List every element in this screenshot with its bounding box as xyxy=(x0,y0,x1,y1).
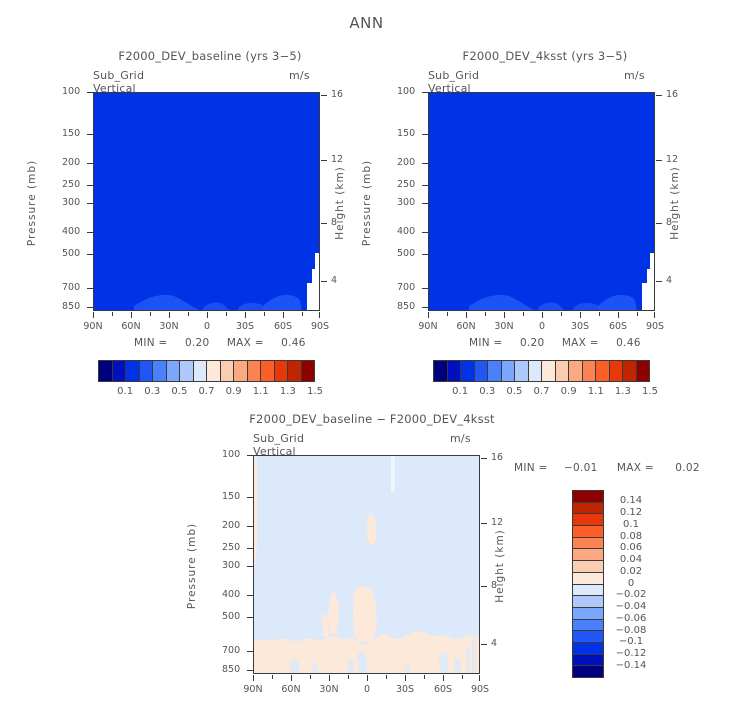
colorbar-label: 0.04 xyxy=(608,554,654,565)
colorbar-label: 0.02 xyxy=(608,566,654,577)
panel-difference-field-svg xyxy=(254,456,479,673)
colorbar-label: 1.3 xyxy=(273,386,303,397)
colorbar-cell xyxy=(573,503,603,515)
panel-4ksst-units: m/s xyxy=(624,69,645,82)
panel-baseline-field-svg xyxy=(94,93,319,310)
tick-height-16: 16 xyxy=(491,452,503,463)
colorbar-cell xyxy=(573,514,603,526)
colorbar-label: 0.5 xyxy=(499,386,529,397)
colorbar-cell xyxy=(573,596,603,608)
colorbar-cell xyxy=(288,361,302,381)
colorbar-cell xyxy=(221,361,235,381)
tick-height-12: 12 xyxy=(666,154,678,165)
tick-height-8: 8 xyxy=(666,217,672,228)
colorbar-cell xyxy=(573,538,603,550)
tick-pressure-150: 150 xyxy=(397,128,415,139)
panel-baseline-units: m/s xyxy=(289,69,310,82)
colorbar-cell xyxy=(596,361,610,381)
colorbar-label: −0.14 xyxy=(608,660,654,671)
colorbar-label: 0.08 xyxy=(608,531,654,542)
panel-difference-minmax: MIN = −0.01 MAX = 0.02 xyxy=(514,462,700,474)
tick-lat-60N: 60N xyxy=(451,321,481,332)
colorbar-cell xyxy=(461,361,475,381)
tick-pressure-150: 150 xyxy=(222,491,240,502)
colorbar-label: −0.12 xyxy=(608,648,654,659)
tick-pressure-100: 100 xyxy=(222,449,240,460)
tick-pressure-700: 700 xyxy=(397,282,415,293)
tick-pressure-850: 850 xyxy=(62,301,80,312)
colorbar-cell xyxy=(194,361,208,381)
tick-lat-30N: 30N xyxy=(314,684,344,695)
tick-height-16: 16 xyxy=(666,89,678,100)
tick-pressure-300: 300 xyxy=(397,197,415,208)
colorbar-cell xyxy=(275,361,289,381)
colorbar-label: 0.9 xyxy=(219,386,249,397)
colorbar-label: 0.1 xyxy=(110,386,140,397)
colorbar-cell xyxy=(248,361,262,381)
tick-height-12: 12 xyxy=(491,517,503,528)
colorbar-cell xyxy=(573,561,603,573)
colorbar-label: −0.08 xyxy=(608,625,654,636)
panel-baseline-min-label: MIN = xyxy=(134,337,168,349)
tick-height-16: 16 xyxy=(331,89,343,100)
tick-height-8: 8 xyxy=(491,580,497,591)
colorbar-label: 0 xyxy=(608,578,654,589)
panel-4ksst-title: F2000_DEV_4ksst (yrs 3−5) xyxy=(375,49,715,63)
tick-pressure-850: 850 xyxy=(222,664,240,675)
panel-baseline-field xyxy=(94,93,319,310)
colorbar-cell xyxy=(515,361,529,381)
panel-difference-plot xyxy=(253,455,480,674)
tick-lat-90S: 90S xyxy=(640,321,670,332)
tick-pressure-500: 500 xyxy=(397,248,415,259)
colorbar-cell xyxy=(542,361,556,381)
tick-pressure-150: 150 xyxy=(62,128,80,139)
tick-lat-60N: 60N xyxy=(276,684,306,695)
colorbar-label: −0.04 xyxy=(608,601,654,612)
colorbar-label: 0.1 xyxy=(608,519,654,530)
colorbar-label: 0.7 xyxy=(527,386,557,397)
colorbar-label: 1.5 xyxy=(300,386,330,397)
panel-difference-min-label: MIN = xyxy=(514,462,548,474)
tick-pressure-700: 700 xyxy=(62,282,80,293)
panel-4ksst-max-label: MAX = xyxy=(562,337,599,349)
panel-baseline-title: F2000_DEV_baseline (yrs 3−5) xyxy=(40,49,380,63)
tick-pressure-100: 100 xyxy=(62,86,80,97)
panel-difference-colorbar-labels: 0.140.120.10.080.060.040.020−0.02−0.04−0… xyxy=(608,490,668,678)
colorbar-label: 1.5 xyxy=(635,386,665,397)
colorbar-label: 0.5 xyxy=(164,386,194,397)
colorbar-label: 0.9 xyxy=(554,386,584,397)
colorbar-cell xyxy=(556,361,570,381)
colorbar-cell xyxy=(180,361,194,381)
colorbar-cell xyxy=(207,361,221,381)
colorbar-label: 0.1 xyxy=(445,386,475,397)
colorbar-cell xyxy=(573,666,603,677)
colorbar-cell xyxy=(261,361,275,381)
colorbar-cell xyxy=(573,620,603,632)
colorbar-cell xyxy=(448,361,462,381)
colorbar-cell xyxy=(126,361,140,381)
colorbar-cell xyxy=(113,361,127,381)
tick-pressure-400: 400 xyxy=(62,226,80,237)
tick-pressure-200: 200 xyxy=(62,157,80,168)
tick-pressure-500: 500 xyxy=(62,248,80,259)
tick-lat-90S: 90S xyxy=(465,684,495,695)
colorbar-cell xyxy=(573,573,603,585)
colorbar-cell xyxy=(302,361,315,381)
panel-4ksst-min-value: 0.20 xyxy=(520,337,545,349)
colorbar-cell xyxy=(99,361,113,381)
figure-suptitle: ANN xyxy=(0,14,733,32)
tick-pressure-100: 100 xyxy=(397,86,415,97)
colorbar-cell xyxy=(569,361,583,381)
tick-pressure-500: 500 xyxy=(222,611,240,622)
panel-4ksst-field-svg xyxy=(429,93,654,310)
colorbar-label: −0.1 xyxy=(608,636,654,647)
colorbar-cell xyxy=(573,526,603,538)
panel-baseline-colorbar-labels: 0.10.30.50.70.91.11.31.5 xyxy=(98,386,315,400)
panel-baseline-plot xyxy=(93,92,320,311)
colorbar-cell xyxy=(623,361,637,381)
tick-height-12: 12 xyxy=(331,154,343,165)
tick-pressure-300: 300 xyxy=(222,560,240,571)
panel-4ksst-plot xyxy=(428,92,655,311)
panel-baseline-min-value: 0.20 xyxy=(185,337,210,349)
tick-pressure-200: 200 xyxy=(397,157,415,168)
colorbar-cell xyxy=(573,491,603,503)
colorbar-cell xyxy=(573,631,603,643)
panel-baseline-max-value: 0.46 xyxy=(281,337,306,349)
panel-baseline-yaxis-label: Pressure (mb) xyxy=(26,143,38,263)
colorbar-cell xyxy=(529,361,543,381)
colorbar-label: 0.3 xyxy=(137,386,167,397)
tick-height-4: 4 xyxy=(666,275,672,286)
colorbar-label: 0.7 xyxy=(192,386,222,397)
colorbar-label: 1.1 xyxy=(581,386,611,397)
tick-lat-90N: 90N xyxy=(413,321,443,332)
colorbar-label: 0.12 xyxy=(608,507,654,518)
colorbar-cell xyxy=(573,549,603,561)
tick-lat-60S: 60S xyxy=(603,321,633,332)
panel-4ksst-max-value: 0.46 xyxy=(616,337,641,349)
colorbar-cell xyxy=(573,655,603,667)
panel-baseline-max-label: MAX = xyxy=(227,337,264,349)
colorbar-label: −0.02 xyxy=(608,589,654,600)
colorbar-label: 1.3 xyxy=(608,386,638,397)
panel-difference-colorbar xyxy=(572,490,604,678)
panel-difference-max-label: MAX = xyxy=(617,462,654,474)
colorbar-cell xyxy=(434,361,448,381)
colorbar-cell xyxy=(573,643,603,655)
tick-lat-60S: 60S xyxy=(428,684,458,695)
panel-4ksst-field xyxy=(429,93,654,310)
colorbar-cell xyxy=(140,361,154,381)
tick-lat-90S: 90S xyxy=(305,321,335,332)
tick-pressure-400: 400 xyxy=(222,589,240,600)
tick-lat-30S: 30S xyxy=(565,321,595,332)
tick-lat-30N: 30N xyxy=(489,321,519,332)
tick-height-4: 4 xyxy=(331,275,337,286)
panel-4ksst-colorbar xyxy=(433,360,650,382)
panel-difference-max-value: 0.02 xyxy=(675,462,700,474)
colorbar-label: 0.3 xyxy=(472,386,502,397)
colorbar-cell xyxy=(637,361,650,381)
tick-pressure-200: 200 xyxy=(222,520,240,531)
panel-difference-min-value: −0.01 xyxy=(564,462,598,474)
panel-difference-title: F2000_DEV_baseline − F2000_DEV_4ksst xyxy=(196,412,548,426)
tick-lat-90N: 90N xyxy=(78,321,108,332)
panel-4ksst-yaxis-label: Pressure (mb) xyxy=(361,143,373,263)
colorbar-cell xyxy=(488,361,502,381)
tick-lat-0: 0 xyxy=(352,684,382,695)
tick-pressure-850: 850 xyxy=(397,301,415,312)
tick-lat-30S: 30S xyxy=(390,684,420,695)
panel-4ksst-min-label: MIN = xyxy=(469,337,503,349)
panel-difference-field xyxy=(254,456,479,673)
panel-difference-units: m/s xyxy=(450,432,471,445)
colorbar-cell xyxy=(153,361,167,381)
colorbar-cell xyxy=(573,585,603,597)
tick-pressure-400: 400 xyxy=(397,226,415,237)
colorbar-cell xyxy=(475,361,489,381)
tick-lat-0: 0 xyxy=(527,321,557,332)
panel-difference-yaxis-label: Pressure (mb) xyxy=(186,506,198,626)
tick-lat-60S: 60S xyxy=(268,321,298,332)
tick-lat-0: 0 xyxy=(192,321,222,332)
tick-pressure-300: 300 xyxy=(62,197,80,208)
colorbar-cell xyxy=(583,361,597,381)
colorbar-cell xyxy=(502,361,516,381)
tick-lat-30S: 30S xyxy=(230,321,260,332)
tick-lat-90N: 90N xyxy=(238,684,268,695)
colorbar-cell xyxy=(610,361,624,381)
tick-pressure-700: 700 xyxy=(222,645,240,656)
colorbar-cell xyxy=(167,361,181,381)
tick-height-8: 8 xyxy=(331,217,337,228)
colorbar-label: 1.1 xyxy=(246,386,276,397)
tick-pressure-250: 250 xyxy=(62,179,80,190)
tick-pressure-250: 250 xyxy=(222,542,240,553)
colorbar-label: −0.06 xyxy=(608,613,654,624)
tick-pressure-250: 250 xyxy=(397,179,415,190)
panel-4ksst-colorbar-labels: 0.10.30.50.70.91.11.31.5 xyxy=(433,386,650,400)
tick-height-4: 4 xyxy=(491,638,497,649)
colorbar-label: 0.06 xyxy=(608,542,654,553)
tick-lat-60N: 60N xyxy=(116,321,146,332)
colorbar-cell xyxy=(234,361,248,381)
colorbar-label: 0.14 xyxy=(608,495,654,506)
panel-baseline-colorbar xyxy=(98,360,315,382)
tick-lat-30N: 30N xyxy=(154,321,184,332)
panel-baseline-minmax: MIN = 0.20 MAX = 0.46 xyxy=(134,337,306,349)
panel-4ksst-minmax: MIN = 0.20 MAX = 0.46 xyxy=(469,337,641,349)
colorbar-cell xyxy=(573,608,603,620)
